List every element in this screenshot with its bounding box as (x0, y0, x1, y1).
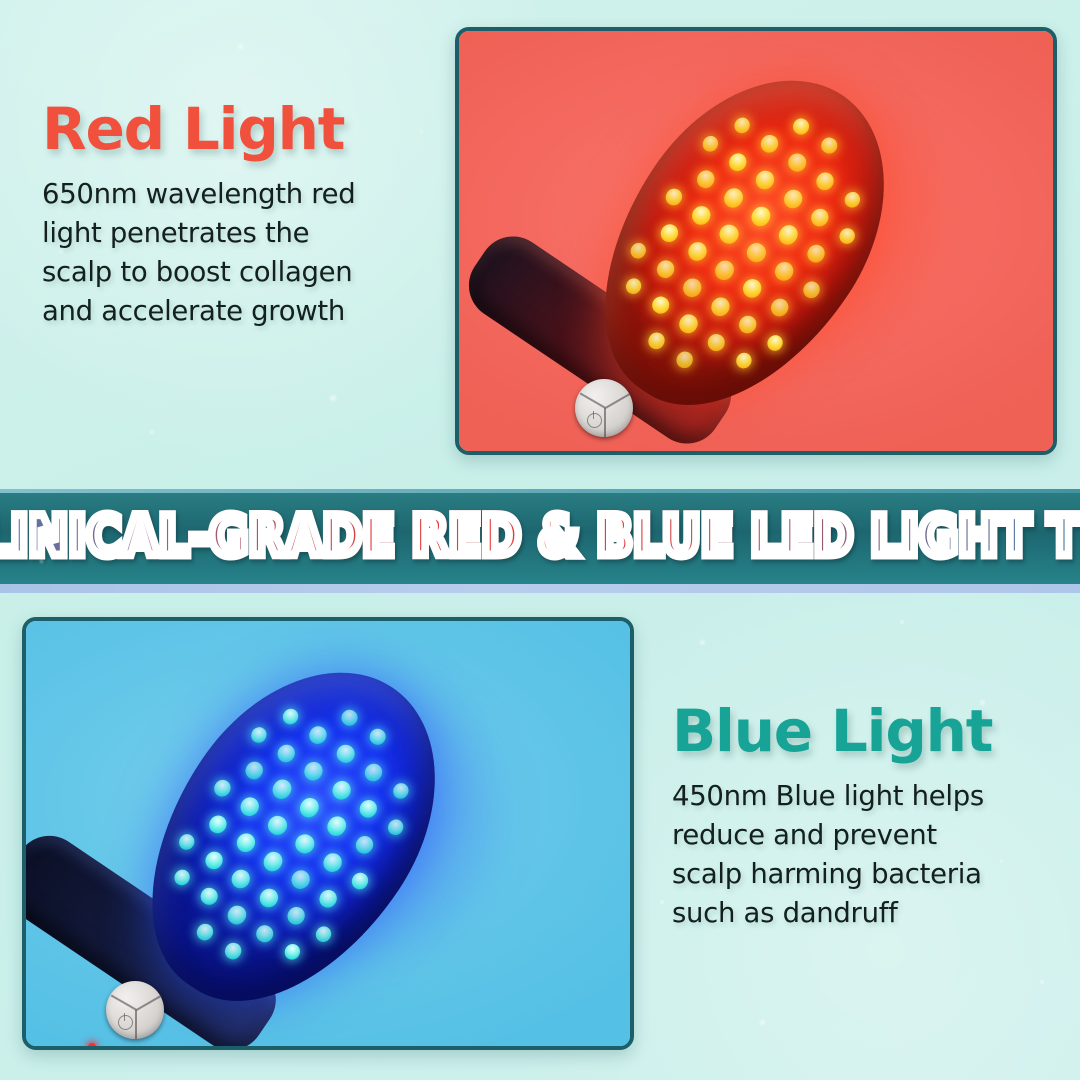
led-dot (790, 115, 813, 138)
led-dot (658, 221, 682, 245)
blue-light-copy-block: Blue Light 450nm Blue light helps reduce… (672, 702, 1062, 933)
led-dot (324, 813, 350, 839)
led-dot (752, 167, 778, 193)
red-body-line-2: light penetrates the (42, 214, 427, 253)
led-dot (284, 904, 308, 928)
blue-body-line-3: scalp harming bacteria (672, 855, 1062, 894)
led-dot (700, 133, 721, 155)
led-dot (813, 169, 837, 193)
led-dot (663, 186, 685, 209)
led-dot (333, 742, 358, 767)
red-button-pad (575, 379, 633, 437)
blue-light-body-copy: 450nm Blue light helps reduce and preven… (672, 777, 1062, 933)
red-light-body-copy: 650nm wavelength red light penetrates th… (42, 175, 427, 331)
led-dot (673, 349, 696, 372)
red-light-product-photo (455, 27, 1057, 455)
led-dot (349, 870, 371, 893)
led-dot (645, 330, 668, 353)
led-dot (306, 723, 330, 747)
led-dot (320, 850, 345, 876)
red-comb-device (551, 49, 941, 455)
led-dot (736, 313, 760, 337)
led-dot (785, 150, 810, 175)
led-dot (274, 741, 298, 765)
led-dot (684, 239, 710, 265)
led-dot (221, 940, 244, 963)
led-dot (689, 203, 714, 229)
led-dot (804, 242, 828, 266)
led-dot (211, 777, 233, 800)
led-dot (743, 239, 770, 266)
led-dot (198, 884, 222, 908)
red-light-section: Red Light 650nm wavelength red light pen… (0, 0, 1080, 489)
led-dot (280, 706, 302, 728)
led-dot (748, 203, 775, 230)
led-dot (768, 295, 792, 319)
red-light-copy-block: Red Light 650nm wavelength red light pen… (42, 100, 427, 331)
led-dot (623, 276, 645, 298)
led-dot (202, 848, 226, 872)
status-indicator-light (88, 1043, 96, 1050)
led-dot (252, 922, 276, 946)
led-dot (627, 240, 648, 262)
blue-button-pad (106, 981, 164, 1039)
led-dot (292, 830, 319, 857)
led-dot (733, 350, 755, 372)
led-dot (775, 222, 801, 248)
blue-photo-canvas (26, 621, 630, 1046)
led-dot (352, 833, 376, 857)
red-light-headline: Red Light (42, 100, 427, 159)
blue-body-line-2: reduce and prevent (672, 816, 1062, 855)
blue-light-product-photo (22, 617, 634, 1050)
led-dot (361, 761, 385, 785)
led-dot (720, 185, 746, 211)
led-dot (649, 293, 673, 317)
led-dot (716, 221, 743, 248)
led-dot (242, 759, 266, 783)
led-dot (248, 724, 269, 746)
led-dot (171, 867, 193, 889)
led-dot (316, 886, 340, 910)
led-dot (256, 885, 282, 911)
power-icon (587, 413, 602, 428)
led-dot (758, 132, 782, 156)
led-dot (237, 794, 262, 820)
red-body-line-3: scalp to boost collagen (42, 253, 427, 292)
led-dot (707, 293, 733, 319)
led-dot (264, 812, 291, 839)
led-dot (176, 831, 197, 853)
led-dot (818, 134, 841, 157)
led-dot (765, 333, 786, 355)
led-dot (780, 186, 806, 212)
blue-body-line-4: such as dandruff (672, 894, 1062, 933)
center-banner: DUAL CLINICAL-GRADE RED & BLUE LED LIGHT… (0, 489, 1080, 584)
led-dot (841, 189, 863, 211)
led-dot (296, 794, 323, 821)
led-dot (225, 903, 250, 928)
led-dot (808, 205, 832, 229)
led-dot (194, 921, 217, 944)
led-dot (726, 150, 750, 174)
red-body-line-1: 650nm wavelength red (42, 175, 427, 214)
led-dot (694, 167, 718, 191)
led-dot (366, 725, 389, 748)
led-dot (704, 330, 728, 354)
led-dot (837, 225, 858, 247)
led-dot (269, 776, 295, 802)
led-dot (228, 866, 254, 892)
led-dot (328, 777, 354, 803)
power-icon (118, 1015, 133, 1030)
red-photo-canvas (459, 31, 1053, 451)
poster-canvas: Red Light 650nm wavelength red light pen… (0, 0, 1080, 1080)
led-dot (260, 848, 287, 875)
led-dot (800, 278, 822, 301)
blue-light-section: Blue Light 450nm Blue light helps reduce… (0, 592, 1080, 1080)
red-body-line-4: and accelerate growth (42, 292, 427, 331)
blue-body-line-1: 450nm Blue light helps (672, 777, 1062, 816)
led-dot (711, 257, 738, 284)
blue-comb-device (94, 643, 494, 1050)
led-dot (676, 311, 701, 336)
blue-light-headline: Blue Light (672, 702, 1062, 761)
led-dot (731, 115, 753, 137)
led-dot (301, 759, 327, 785)
led-dot (739, 276, 765, 302)
led-dot (313, 924, 334, 946)
led-dot (339, 707, 362, 730)
led-dot (233, 830, 259, 856)
led-dot (357, 796, 381, 820)
led-dot (653, 257, 677, 281)
led-dot (281, 941, 303, 963)
led-dot (206, 812, 230, 836)
led-dot (771, 258, 796, 284)
led-dot (680, 275, 706, 301)
led-dot (390, 780, 412, 802)
led-dot (288, 867, 314, 893)
banner-headline: DUAL CLINICAL-GRADE RED & BLUE LED LIGHT… (0, 509, 1080, 564)
led-dot (385, 816, 406, 838)
